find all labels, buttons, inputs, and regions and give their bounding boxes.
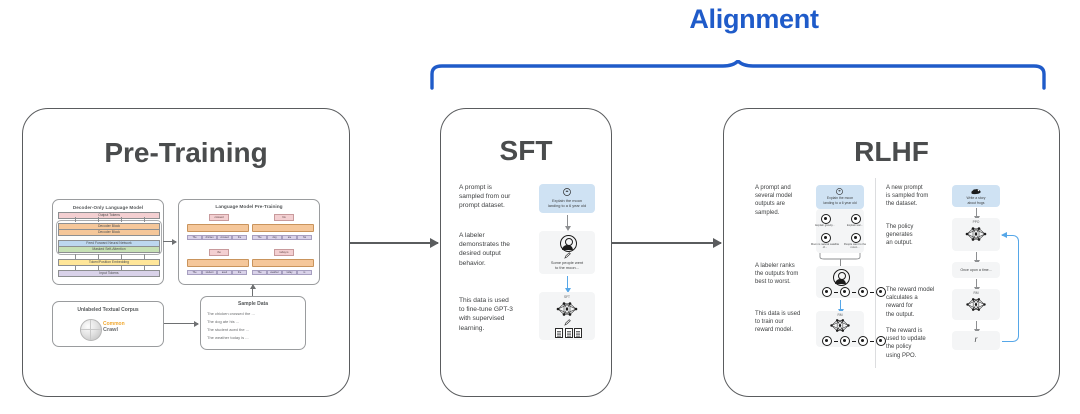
sft-documents-icon (555, 328, 582, 338)
option-a-icon (821, 214, 831, 224)
layer-input-tokens: Input Tokens (58, 270, 160, 277)
rlhf-labeler-person-icon (833, 269, 850, 286)
arrow-sft-to-rlhf (612, 242, 721, 244)
layer-masked-self-attention: Masked Self-Attention (58, 246, 160, 253)
sft-prompt-text: Explain the moon landing to a 6 year old (543, 198, 591, 208)
diagram-canvas: Alignment Pre-Training Decoder-Only Lang… (0, 0, 1080, 414)
mini-2-output-label: his (274, 214, 294, 221)
rlhf-right-reward-model-label: RM (952, 291, 1000, 295)
mini-3-token-1: student (202, 270, 217, 275)
rlhf-reward-ranking-row (822, 336, 886, 346)
decoder-only-language-model-box: Decoder-Only Language Model Output Token… (52, 199, 164, 285)
sft-pencil-icon (564, 319, 571, 326)
reward-rank-3-icon (858, 336, 868, 346)
sft-step-2-text: A labeler demonstrates the desired outpu… (459, 231, 537, 268)
rank-4-icon (876, 287, 886, 297)
sft-step-1-text: A prompt is sampled from our prompt data… (459, 183, 537, 211)
option-c-caption: Moon is natural satellite of... (810, 243, 840, 250)
rlhf-feedback-loop-arrow (1002, 235, 1019, 342)
sample-line-4: The weather today is ... (207, 335, 249, 341)
policy-network-icon (964, 225, 988, 243)
arrow-sample-to-lmpt (252, 285, 253, 296)
mini-2-token-3: his (297, 235, 312, 240)
sample-data-box: Sample Data The chicken crossed the ... … (200, 296, 306, 350)
frog-icon (971, 188, 982, 195)
alignment-title: Alignment (604, 4, 904, 35)
layer-token-position-embedding: Token/Position Embedding (58, 259, 160, 266)
rlhf-new-prompt-card: Write a story about frogs (952, 185, 1000, 207)
mini-1-output-label: crossed (209, 214, 229, 221)
rlhf-prompt-card: Explain the moon landing to a 6 year old (816, 185, 864, 209)
rlhf-reward-value-card: r (952, 331, 1000, 350)
pretraining-title: Pre-Training (23, 137, 349, 169)
sft-step-3-text: This data is used to fine-tune GPT-3 wit… (459, 296, 541, 333)
rlhf-right-flow-1 (976, 208, 977, 217)
right-reward-network-icon (964, 296, 988, 313)
mini-1-token-2: crossed (217, 235, 232, 240)
mini-2-token-0: The (252, 235, 267, 240)
mini-4-token-0: The (252, 270, 267, 275)
rlhf-right-step-3-text: The reward model calculates a reward for… (886, 286, 952, 319)
mini-2-token-2: ate (282, 235, 297, 240)
sft-demo-text: Some people went to the moon... (543, 260, 591, 270)
rlhf-output-card: Once upon a time... (952, 262, 1000, 278)
rlhf-left-step-2-text: A labeler ranks the outputs from best to… (755, 262, 813, 287)
mini-1-tokens: The chicken crossed the (187, 235, 247, 240)
rlhf-policy-label: PPO (952, 220, 1000, 224)
rlhf-right-flow-3 (976, 279, 977, 288)
sft-model-label: SFT (539, 295, 595, 299)
rlhf-ranking-card (816, 266, 864, 298)
mini-3-token-0: The (187, 270, 202, 275)
labeler-person-icon (560, 235, 577, 252)
mini-3-token-3: the (232, 270, 247, 275)
sft-prompt-card: Explain the moon landing to a 6 year old (539, 184, 595, 213)
pencil-icon (564, 252, 571, 259)
rlhf-title: RLHF (724, 136, 1059, 168)
arrow-pretraining-to-sft (350, 242, 438, 244)
rlhf-options-card: Explain gravity... Explain war... Moon i… (816, 209, 864, 253)
option-d-caption: People went to the moon... (840, 243, 870, 250)
rlhf-flow-2 (840, 300, 841, 310)
reward-rank-4-icon (876, 336, 886, 346)
rlhf-right-flow-4 (976, 321, 977, 330)
sft-title: SFT (441, 135, 611, 167)
rlhf-prompt-text: Explain the moon landing to a 6 year old (820, 196, 860, 205)
sft-model-card: SFT (539, 292, 595, 340)
mini-1-token-0: The (187, 235, 202, 240)
decoder-box-title: Decoder-Only Language Model (53, 205, 163, 210)
mini-1-token-1: chicken (202, 235, 217, 240)
rlhf-right-flow-2 (976, 252, 977, 261)
sft-labeler-card: Some people went to the moon... (539, 231, 595, 274)
mini-3-tokens: The student aced the (187, 270, 247, 275)
option-b-icon (851, 214, 861, 224)
lmpt-box-title: Language Model Pre-Training (179, 205, 319, 210)
mini-4-output-label: today is (274, 249, 294, 256)
mini-2-tokens: The dog ate his (252, 235, 312, 240)
mini-4-token-3: is (297, 270, 312, 275)
option-c-icon (821, 233, 831, 243)
sample-line-2: The dog ate his ... (207, 319, 239, 325)
rlhf-reward-model-card: RM (816, 311, 864, 347)
mini-3-output-label: the (209, 249, 229, 256)
rlhf-policy-card: PPO (952, 218, 1000, 251)
alignment-brace-icon (428, 60, 1048, 90)
mini-1-trunk (187, 224, 249, 232)
mini-transformer-3: the The student aced the (187, 249, 247, 277)
sample-data-title: Sample Data (201, 301, 305, 307)
unlabeled-textual-corpus-box: Unlabeled Textual Corpus Common Crawl (52, 301, 164, 347)
sample-line-3: The student aced the ... (207, 327, 249, 333)
rlhf-left-step-3-text: This data is used to train our reward mo… (755, 310, 813, 335)
sft-flow-2 (567, 276, 568, 289)
rlhf-right-reward-model-card: RM (952, 289, 1000, 320)
wikipedia-globe-icon (80, 319, 102, 341)
mini-4-tokens: The weather today is (252, 270, 312, 275)
mini-1-token-3: the (232, 235, 247, 240)
neural-network-icon (555, 300, 579, 318)
rlhf-reward-symbol: r (952, 335, 1000, 344)
sft-flow-1 (567, 215, 568, 227)
reward-model-network-icon (828, 317, 852, 334)
layer-decoder-block-2: Decoder Block (58, 229, 160, 236)
rank-2-icon (840, 287, 850, 297)
mini-2-token-1: dog (267, 235, 282, 240)
arrow-corpus-to-sample (164, 323, 198, 324)
rank-3-icon (858, 287, 868, 297)
reward-rank-1-icon (822, 336, 832, 346)
rlhf-output-text: Once upon a time... (956, 268, 996, 273)
mini-4-token-2: today (282, 270, 297, 275)
option-d-icon (851, 233, 861, 243)
rlhf-right-step-2-text: The policy generates an output. (886, 223, 948, 248)
rlhf-ranking-row (822, 287, 886, 297)
common-crawl-logo-line2: Crawl (103, 327, 118, 333)
mini-4-token-1: weather (267, 270, 282, 275)
prompt-bubble-icon (563, 188, 571, 196)
mini-2-trunk (252, 224, 314, 232)
mini-transformer-2: his The dog ate his (252, 214, 312, 242)
sample-line-1: The chicken crossed the ... (207, 311, 255, 317)
mini-4-trunk (252, 259, 314, 267)
language-model-pretraining-box: Language Model Pre-Training crossed The … (178, 199, 320, 285)
layer-output-tokens: Output Tokens (58, 212, 160, 219)
mini-transformer-4: today is The weather today is (252, 249, 312, 277)
rank-1-icon (822, 287, 832, 297)
rlhf-new-prompt-text: Write a story about frogs (956, 196, 996, 205)
corpus-box-title: Unlabeled Textual Corpus (53, 307, 163, 313)
mini-transformer-1: crossed The chicken crossed the (187, 214, 247, 242)
rlhf-prompt-bubble-icon (836, 188, 843, 195)
rlhf-left-step-1-text: A prompt and several model outputs are s… (755, 184, 813, 217)
mini-3-token-2: aced (217, 270, 232, 275)
option-b-caption: Explain war... (840, 224, 870, 227)
option-a-caption: Explain gravity... (810, 224, 840, 227)
rlhf-right-step-1-text: A new prompt is sampled from the dataset… (886, 184, 948, 209)
mini-3-trunk (187, 259, 249, 267)
rlhf-right-step-4-text: The reward is used to update the policy … (886, 327, 948, 360)
arrow-decoder-to-lmpt (163, 241, 176, 242)
reward-rank-2-icon (840, 336, 850, 346)
